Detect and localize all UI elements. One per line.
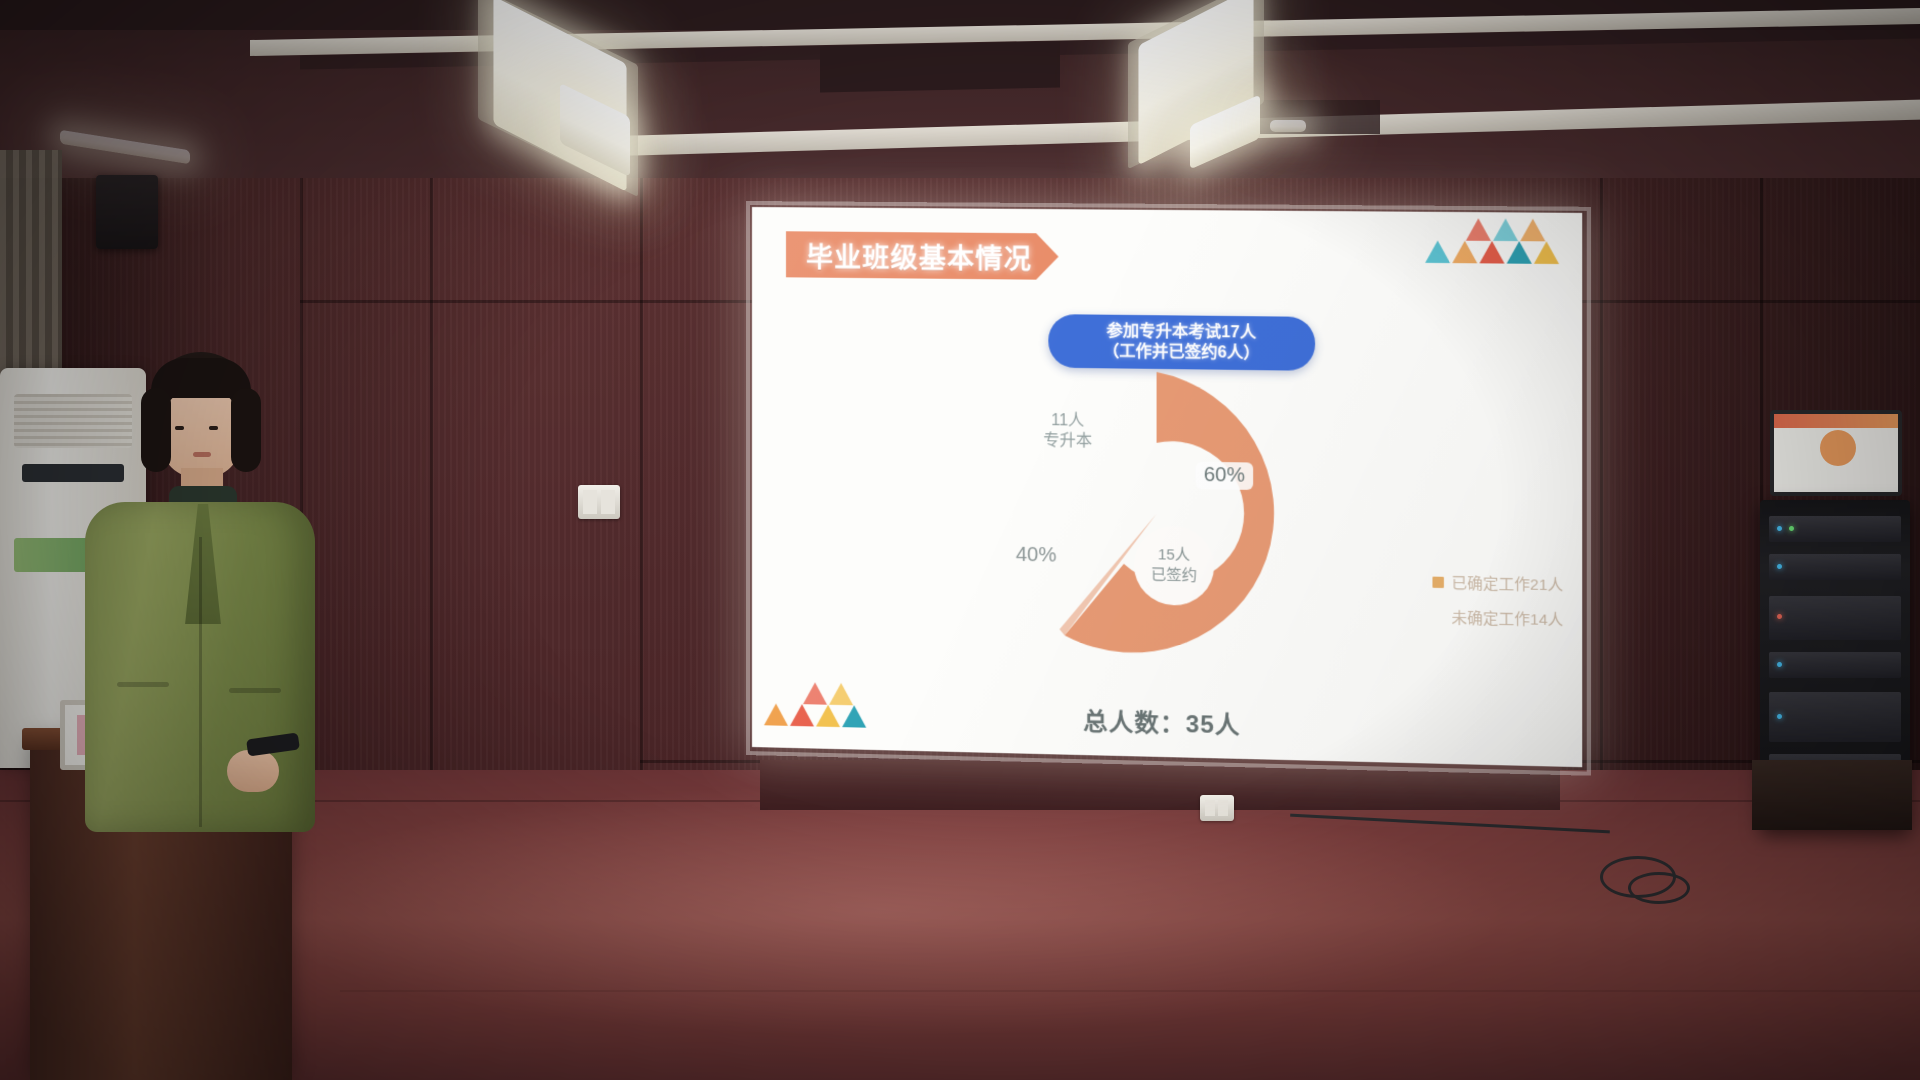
- light-switch[interactable]: [578, 485, 620, 519]
- monitor-logo-icon: [1820, 430, 1856, 466]
- donut-chart: 40% 60% 11人 专升本 15人 已签约: [1004, 350, 1342, 680]
- ceiling-beam: [820, 41, 1060, 92]
- legend-label: 未确定工作14人: [1452, 607, 1564, 631]
- presenter-hair-left: [141, 388, 171, 472]
- floor-cable: [1628, 872, 1690, 904]
- upgrade-name-label: 专升本: [1022, 431, 1114, 453]
- pct-major-label: 60%: [1196, 462, 1254, 490]
- wall-seam: [1600, 120, 1603, 790]
- presenter-eye: [209, 426, 218, 430]
- rack-unit: [1769, 554, 1901, 580]
- callout-line-1: 参加专升本考试17人: [1063, 321, 1301, 343]
- wall-outlet[interactable]: [1200, 795, 1234, 821]
- rack-unit: [1769, 516, 1901, 542]
- pct-minor-label: 40%: [1016, 544, 1057, 568]
- floor-cabinet: [1752, 760, 1912, 830]
- ceiling-light: [1270, 120, 1306, 132]
- rack-unit: [1769, 652, 1901, 678]
- decorative-triangles-icon: [1415, 218, 1572, 268]
- wall-seam: [640, 120, 643, 790]
- presenter-face: [161, 386, 241, 478]
- legend-item: 未确定工作14人: [1433, 606, 1563, 630]
- total-count-label: 总人数：35人: [752, 694, 1582, 749]
- presenter-pocket: [229, 688, 281, 693]
- projection-screen[interactable]: 毕业班级基本情况 参加专升本考试17人 （工作并已签约6人） 40% 60% 1…: [752, 207, 1582, 767]
- chart-legend: 已确定工作21人 未确定工作14人: [1433, 571, 1563, 643]
- presenter-mouth: [193, 452, 211, 457]
- rack-unit: [1769, 692, 1901, 742]
- center-name-label: 已签约: [1151, 565, 1197, 586]
- wall-speaker: [96, 175, 158, 249]
- presenter-coat-seam: [199, 537, 202, 827]
- slide-content: 毕业班级基本情况 参加专升本考试17人 （工作并已签约6人） 40% 60% 1…: [752, 207, 1582, 767]
- legend-item: 已确定工作21人: [1433, 571, 1563, 595]
- monitor-screen: [1774, 414, 1898, 492]
- presenter-eye: [175, 426, 184, 430]
- room-scene: 毕业班级基本情况 参加专升本考试17人 （工作并已签约6人） 40% 60% 1…: [0, 0, 1920, 1080]
- presenter-pocket: [117, 682, 169, 687]
- donut-chart-svg: [1004, 350, 1342, 680]
- legend-swatch-icon: [1433, 577, 1444, 588]
- wall-monitor[interactable]: [1770, 410, 1902, 496]
- center-count-label: 15人: [1158, 545, 1190, 566]
- presenter-hair-right: [231, 388, 261, 472]
- center-bubble: 15人 已签约: [1134, 526, 1214, 607]
- rack-unit: [1769, 596, 1901, 640]
- floor-seam: [340, 990, 1920, 992]
- legend-swatch-icon: [1433, 611, 1444, 622]
- slide-title-ribbon: 毕业班级基本情况: [786, 231, 1059, 280]
- upgrade-count-label: 11人: [1022, 411, 1114, 433]
- legend-label: 已确定工作21人: [1452, 572, 1564, 596]
- presenter-hand: [227, 750, 279, 792]
- presenter: [75, 352, 345, 872]
- slide-title: 毕业班级基本情况: [806, 235, 1032, 276]
- monitor-header-bar: [1774, 414, 1898, 428]
